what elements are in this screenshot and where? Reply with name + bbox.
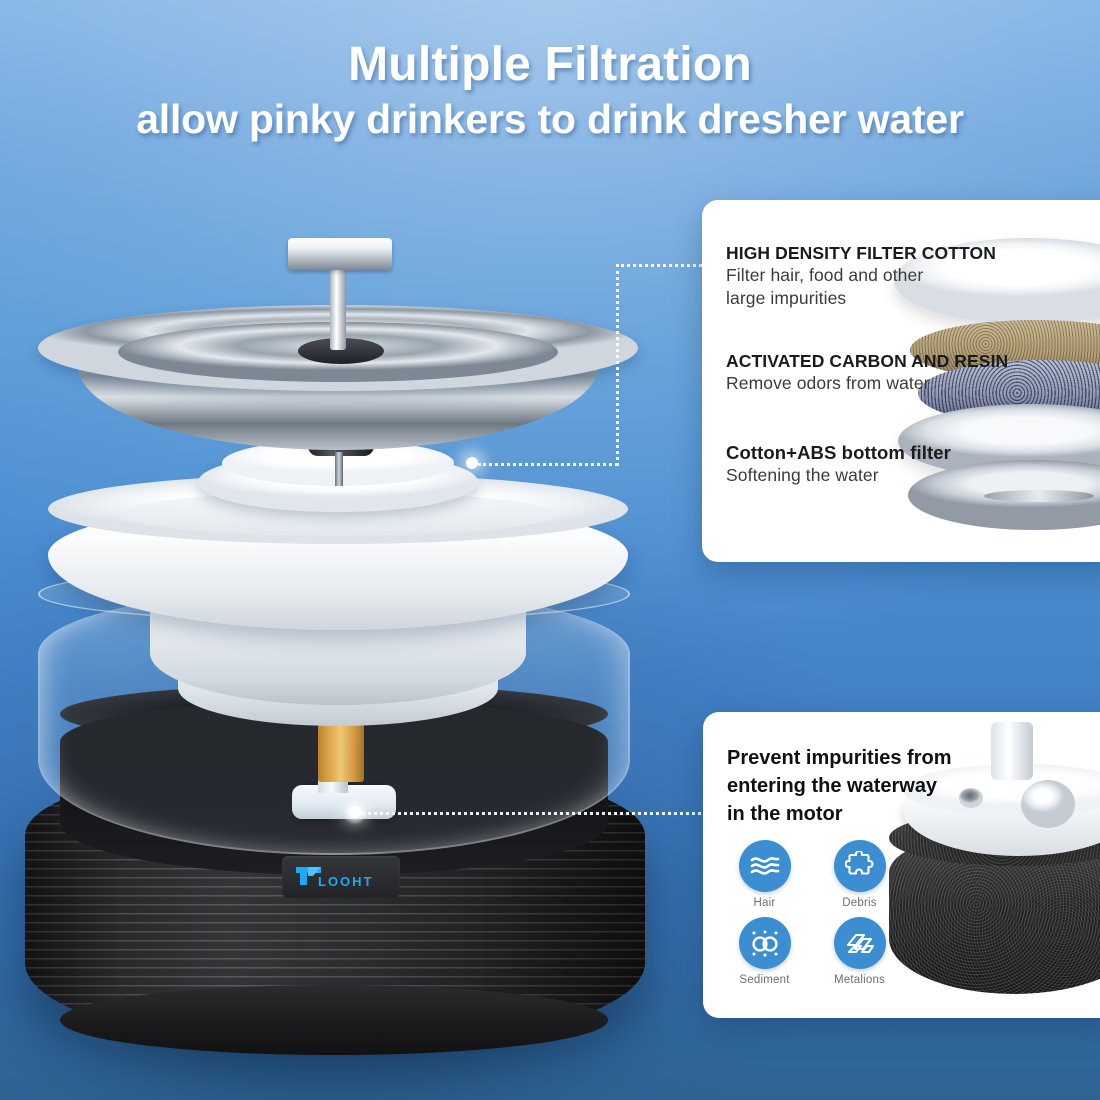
ingots-icon [834, 917, 886, 969]
motor-knob [1021, 780, 1075, 828]
filter-photo-slot [984, 490, 1094, 502]
filter-block-carbon-desc-1: Remove odors from water [726, 372, 1008, 395]
lid-t-spout [288, 238, 392, 270]
brand-logo-text: LOOHT [318, 874, 374, 889]
motor-card-title-line-1: Prevent impurities from [727, 744, 1007, 772]
impurity-badge-row-2: Sediment Metalions [717, 917, 907, 994]
callout-line-filter-v [616, 264, 619, 466]
title-line-2: allow pinky drinkers to drink dresher wa… [0, 94, 1100, 144]
badge-sediment: Sediment [717, 917, 812, 986]
callout-node-motor [349, 806, 361, 818]
base-bottom-ellipse [60, 985, 608, 1055]
filter-block-abs-desc-1: Softening the water [726, 464, 951, 487]
title-line-1: Multiple Filtration [0, 38, 1100, 92]
filter-block-abs-title: Cotton+ABS bottom filter [726, 442, 951, 464]
filter-block-cotton: HIGH DENSITY FILTER COTTON Filter hair, … [726, 242, 996, 310]
badge-sediment-label: Sediment [717, 974, 812, 986]
badge-hair: Hair [717, 840, 812, 909]
puzzle-icon [834, 840, 886, 892]
filter-block-cotton-title: HIGH DENSITY FILTER COTTON [726, 242, 996, 264]
badge-debris-label: Debris [812, 897, 907, 909]
impurity-badge-grid: Hair Debris [717, 840, 907, 994]
callout-node-filter [466, 457, 478, 469]
badge-metalions: Metalions [812, 917, 907, 986]
lid-spout-stem [330, 258, 346, 350]
filter-block-cotton-desc-2: large impurities [726, 287, 996, 310]
filtration-info-card: HIGH DENSITY FILTER COTTON Filter hair, … [702, 200, 1100, 562]
infographic-canvas: Multiple Filtration allow pinky drinkers… [0, 0, 1100, 1100]
filter-block-carbon-title: ACTIVATED CARBON AND RESIN [726, 350, 1008, 372]
callout-line-filter-h1 [478, 463, 618, 466]
callout-line-motor [361, 812, 709, 815]
badge-debris: Debris [812, 840, 907, 909]
waves-icon [739, 840, 791, 892]
page-title: Multiple Filtration allow pinky drinkers… [0, 38, 1100, 144]
lid-center-pin [335, 452, 343, 486]
product-illustration: LOOHT [0, 0, 700, 1100]
filter-block-abs: Cotton+ABS bottom filter Softening the w… [726, 442, 951, 487]
brand-logo-badge: LOOHT [282, 856, 400, 898]
motor-card-title-line-2: entering the waterway [727, 772, 1007, 800]
sediment-icon [739, 917, 791, 969]
filter-block-carbon: ACTIVATED CARBON AND RESIN Remove odors … [726, 350, 1008, 395]
badge-hair-label: Hair [717, 897, 812, 909]
motor-card-title-line-3: in the motor [727, 800, 1007, 828]
callout-line-filter-h2 [616, 264, 708, 267]
motor-protection-card: Prevent impurities from entering the wat… [703, 712, 1100, 1018]
filter-block-cotton-desc-1: Filter hair, food and other [726, 264, 996, 287]
badge-metalions-label: Metalions [812, 974, 907, 986]
motor-card-title: Prevent impurities from entering the wat… [727, 744, 1007, 828]
impurity-badge-row-1: Hair Debris [717, 840, 907, 917]
